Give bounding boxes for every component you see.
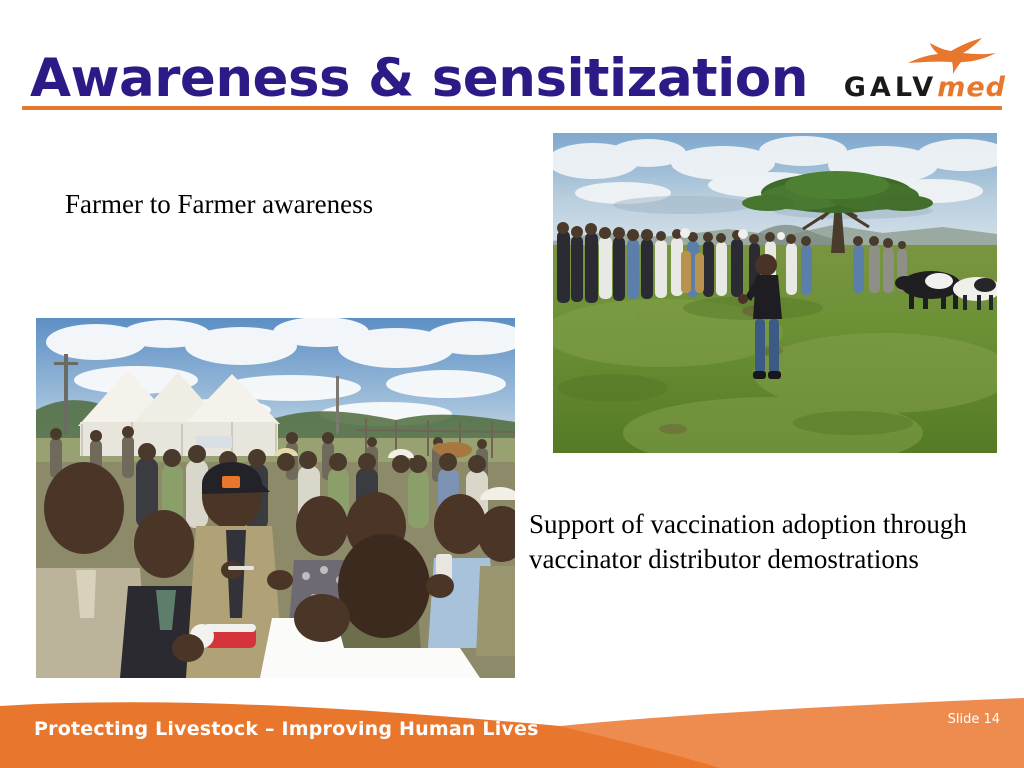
logo-text-galv: GALV [844,72,937,103]
photo-field-gathering [553,133,997,453]
slide-number-label: Slide 14 [948,712,1000,727]
bird-icon [904,36,1000,74]
slide-footer: Protecting Livestock – Improving Human L… [0,688,1024,768]
caption-farmer-to-farmer: Farmer to Farmer awareness [65,187,373,222]
logo-text-med: med [937,72,1006,103]
presentation-slide: Awareness & sensitization GALVmed Farmer… [0,0,1024,768]
logo-wordmark: GALVmed [816,74,1006,101]
caption-vaccination-support: Support of vaccination adoption through … [529,507,984,577]
footer-tagline: Protecting Livestock – Improving Human L… [34,718,539,740]
photo-crowd-demonstration [36,318,515,678]
page-title: Awareness & sensitization [30,52,808,105]
galvmed-logo: GALVmed [816,36,1006,108]
